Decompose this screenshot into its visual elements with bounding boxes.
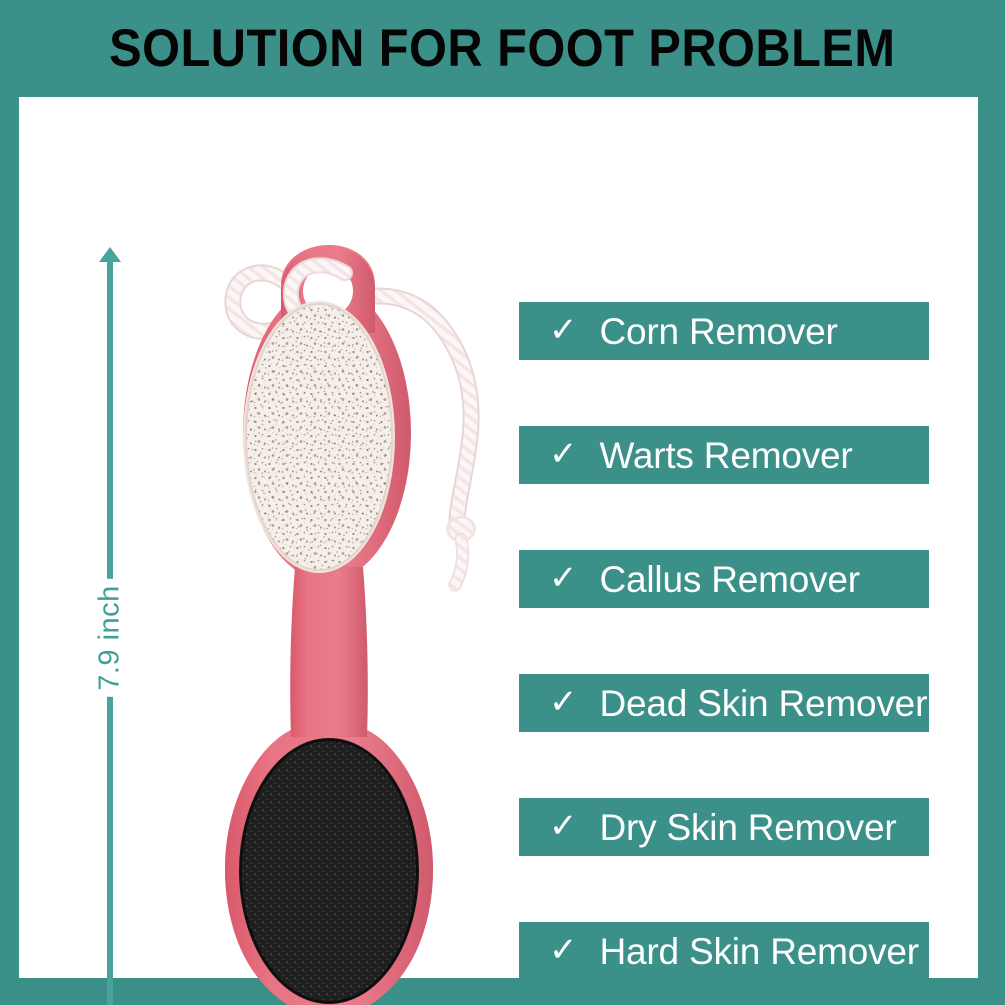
feature-label: Dead Skin Remover [600, 685, 928, 722]
feature-label: Warts Remover [600, 437, 853, 474]
check-icon: ✓ [549, 685, 578, 719]
feature-label: Hard Skin Remover [600, 933, 919, 970]
feature-item-dry-skin-remover: ✓ Dry Skin Remover [519, 798, 929, 856]
check-icon: ✓ [549, 313, 578, 347]
feature-label: Corn Remover [600, 313, 838, 350]
feature-item-callus-remover: ✓ Callus Remover [519, 550, 929, 608]
feature-list: ✓ Corn Remover ✓ Warts Remover ✓ Callus … [519, 302, 929, 980]
infographic-page: SOLUTION FOR FOOT PROBLEM [0, 0, 1005, 1005]
feature-item-hard-skin-remover: ✓ Hard Skin Remover [519, 922, 929, 980]
check-icon: ✓ [549, 933, 578, 967]
height-dimension: 7.9 inch [90, 247, 130, 1005]
check-icon: ✓ [549, 561, 578, 595]
emery-pad [239, 738, 419, 1004]
feature-item-corn-remover: ✓ Corn Remover [519, 302, 929, 360]
feature-item-warts-remover: ✓ Warts Remover [519, 426, 929, 484]
pumice-pad [243, 301, 395, 573]
title-band: SOLUTION FOR FOOT PROBLEM [0, 0, 1005, 97]
feature-label: Dry Skin Remover [600, 809, 897, 846]
check-icon: ✓ [549, 437, 578, 471]
page-title: SOLUTION FOR FOOT PROBLEM [109, 22, 895, 75]
product-image [169, 237, 519, 1005]
check-icon: ✓ [549, 809, 578, 843]
feature-item-dead-skin-remover: ✓ Dead Skin Remover [519, 674, 929, 732]
feature-label: Callus Remover [600, 561, 860, 598]
content-panel: 7.9 inch 2 inch ✓ Corn Remover ✓ Warts R… [19, 97, 978, 978]
height-dimension-label: 7.9 inch [87, 579, 134, 697]
